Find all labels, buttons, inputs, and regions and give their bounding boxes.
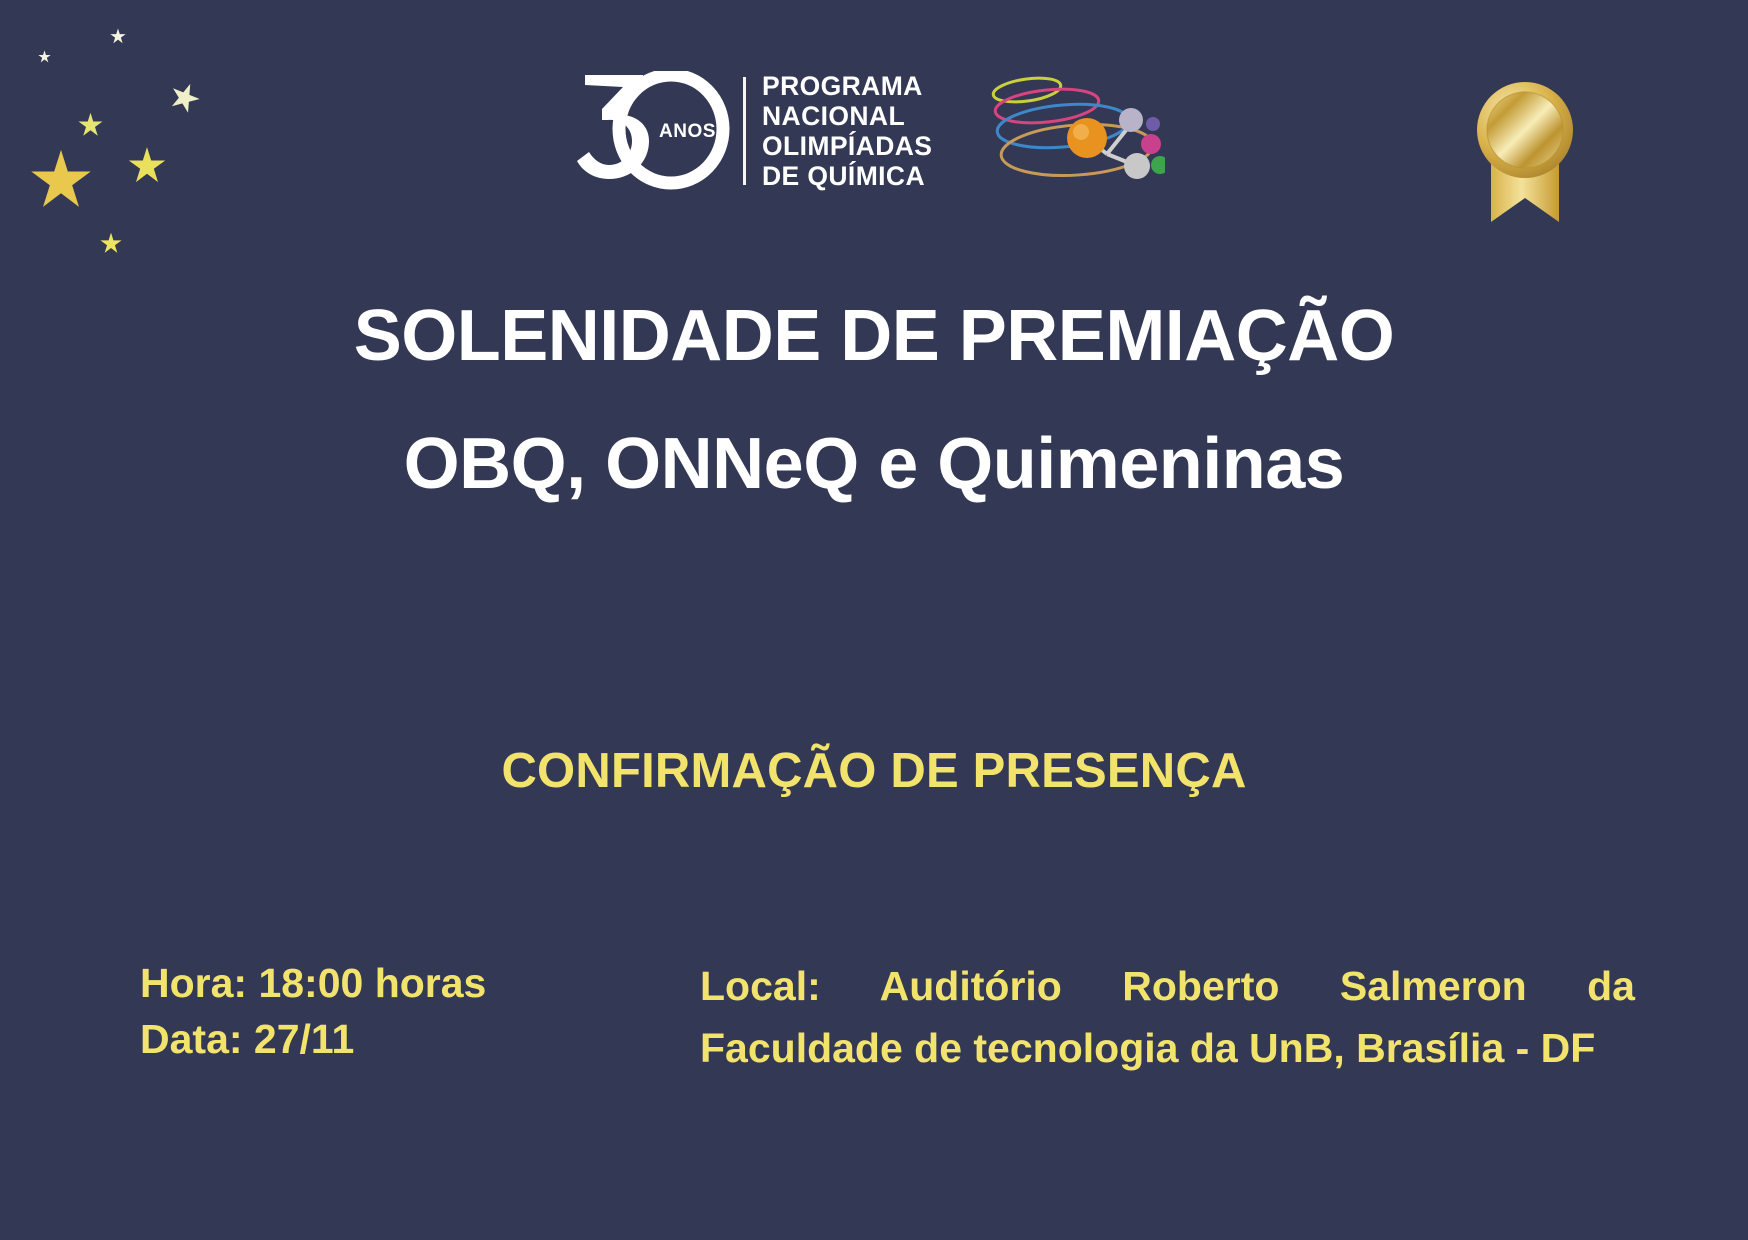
poster-subtitle: CONFIRMAÇÃO DE PRESENÇA bbox=[0, 742, 1748, 800]
logo-wordmark-line-4: DE QUÍMICA bbox=[762, 161, 932, 191]
event-location: Local: Auditório Roberto Salmeron da Fac… bbox=[700, 955, 1635, 1079]
page-title-line-2: OBQ, ONNeQ e Quimeninas bbox=[0, 400, 1748, 528]
svg-text:ANOS: ANOS bbox=[659, 121, 716, 142]
event-time: Hora: 18:00 horas bbox=[140, 955, 570, 1011]
logo-divider bbox=[743, 77, 746, 185]
logo-wordmark: PROGRAMA NACIONAL OLIMPÍADAS DE QUÍMICA bbox=[762, 71, 932, 191]
pnoq-logo: ANOS PROGRAMA NACIONAL OLIMPÍADAS DE QUÍ… bbox=[575, 68, 932, 194]
logo-wordmark-line-3: OLIMPÍADAS bbox=[762, 131, 932, 161]
logo-30-anos-icon: ANOS bbox=[575, 71, 735, 191]
molecule-orbit-icon bbox=[955, 62, 1165, 192]
logo-wordmark-line-1: PROGRAMA bbox=[762, 71, 932, 101]
gold-medal-icon bbox=[1465, 70, 1585, 230]
event-where: Local: Auditório Roberto Salmeron da Fac… bbox=[700, 955, 1635, 1079]
poster-header: ANOS PROGRAMA NACIONAL OLIMPÍADAS DE QUÍ… bbox=[0, 0, 1748, 240]
event-when: Hora: 18:00 horas Data: 27/11 bbox=[140, 955, 570, 1067]
poster-title: SOLENIDADE DE PREMIAÇÃO OBQ, ONNeQ e Qui… bbox=[0, 272, 1748, 528]
logo-wordmark-line-2: NACIONAL bbox=[762, 101, 932, 131]
event-details: Hora: 18:00 horas Data: 27/11 Local: Aud… bbox=[0, 955, 1748, 1155]
page-title-line-1: SOLENIDADE DE PREMIAÇÃO bbox=[0, 272, 1748, 400]
event-poster: ANOS PROGRAMA NACIONAL OLIMPÍADAS DE QUÍ… bbox=[0, 0, 1748, 1240]
event-date: Data: 27/11 bbox=[140, 1011, 570, 1067]
